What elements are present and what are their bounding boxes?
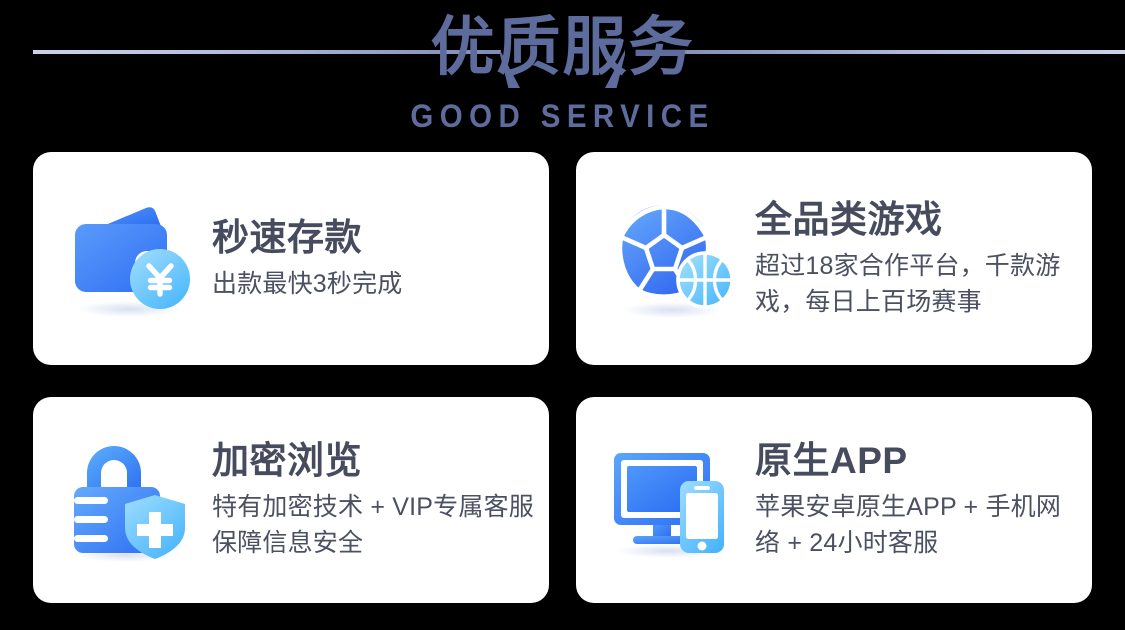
- card-text-block: 原生APP 苹果安卓原生APP + 手机网络 + 24小时客服: [741, 439, 1080, 561]
- feature-card-games[interactable]: 全品类游戏 超过18家合作平台，千款游戏，每日上百场赛事: [576, 152, 1092, 365]
- page-title-en: GOOD SERVICE: [45, 97, 1080, 135]
- card-subtitle: 出款最快3秒完成: [212, 266, 537, 302]
- card-subtitle: 特有加密技术 + VIP专属客服保障信息安全: [212, 489, 537, 561]
- card-text-block: 全品类游戏 超过18家合作平台，千款游戏，每日上百场赛事: [741, 198, 1080, 320]
- card-title: 全品类游戏: [755, 198, 1080, 242]
- monitor-phone-icon: [606, 433, 741, 568]
- feature-card-encryption[interactable]: 加密浏览 特有加密技术 + VIP专属客服保障信息安全: [33, 397, 549, 603]
- card-title: 原生APP: [755, 439, 1080, 483]
- card-text-block: 秒速存款 出款最快3秒完成: [198, 216, 537, 302]
- soccer-basketball-icon: [606, 191, 741, 326]
- wallet-yen-icon: [63, 191, 198, 326]
- feature-card-grid: 秒速存款 出款最快3秒完成: [33, 152, 1092, 603]
- page-header: 优质服务 GOOD SERVICE: [0, 0, 1125, 150]
- card-title: 秒速存款: [212, 216, 537, 260]
- card-subtitle: 超过18家合作平台，千款游戏，每日上百场赛事: [755, 248, 1080, 320]
- card-subtitle: 苹果安卓原生APP + 手机网络 + 24小时客服: [755, 489, 1080, 561]
- card-title: 加密浏览: [212, 439, 537, 483]
- feature-card-deposit[interactable]: 秒速存款 出款最快3秒完成: [33, 152, 549, 365]
- feature-card-native-app[interactable]: 原生APP 苹果安卓原生APP + 手机网络 + 24小时客服: [576, 397, 1092, 603]
- card-text-block: 加密浏览 特有加密技术 + VIP专属客服保障信息安全: [198, 439, 537, 561]
- page-title-cn: 优质服务: [0, 8, 1125, 86]
- lock-shield-icon: [63, 433, 198, 568]
